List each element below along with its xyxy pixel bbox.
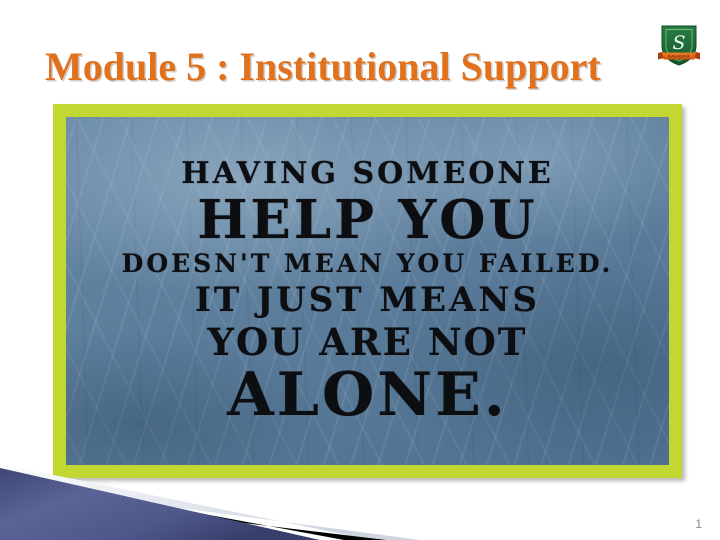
quote-line-1: HAVING SOMEONE	[181, 157, 554, 191]
page-number: 1	[695, 517, 702, 531]
svg-text:BAHADUR: BAHADUR	[668, 54, 689, 58]
quote-line-2: HELP YOU	[197, 192, 537, 248]
page-title: Module 5 : Institutional Support	[45, 44, 645, 90]
shield-logo: S BAHADUR	[653, 18, 705, 70]
svg-text:S: S	[672, 32, 685, 54]
quote-line-5: YOU ARE NOT	[208, 321, 528, 363]
slide: S BAHADUR Module 5 : Institutional Suppo…	[0, 0, 720, 540]
quote-line-4: IT JUST MEANS	[195, 280, 540, 320]
quote-line-3: DOESN'T MEAN YOU FAILED.	[122, 249, 614, 279]
poster-image: HAVING SOMEONE HELP YOU DOESN'T MEAN YOU…	[66, 117, 669, 465]
image-frame: HAVING SOMEONE HELP YOU DOESN'T MEAN YOU…	[53, 104, 682, 478]
poster-quote: HAVING SOMEONE HELP YOU DOESN'T MEAN YOU…	[66, 117, 669, 465]
quote-line-6: ALONE.	[227, 364, 507, 426]
